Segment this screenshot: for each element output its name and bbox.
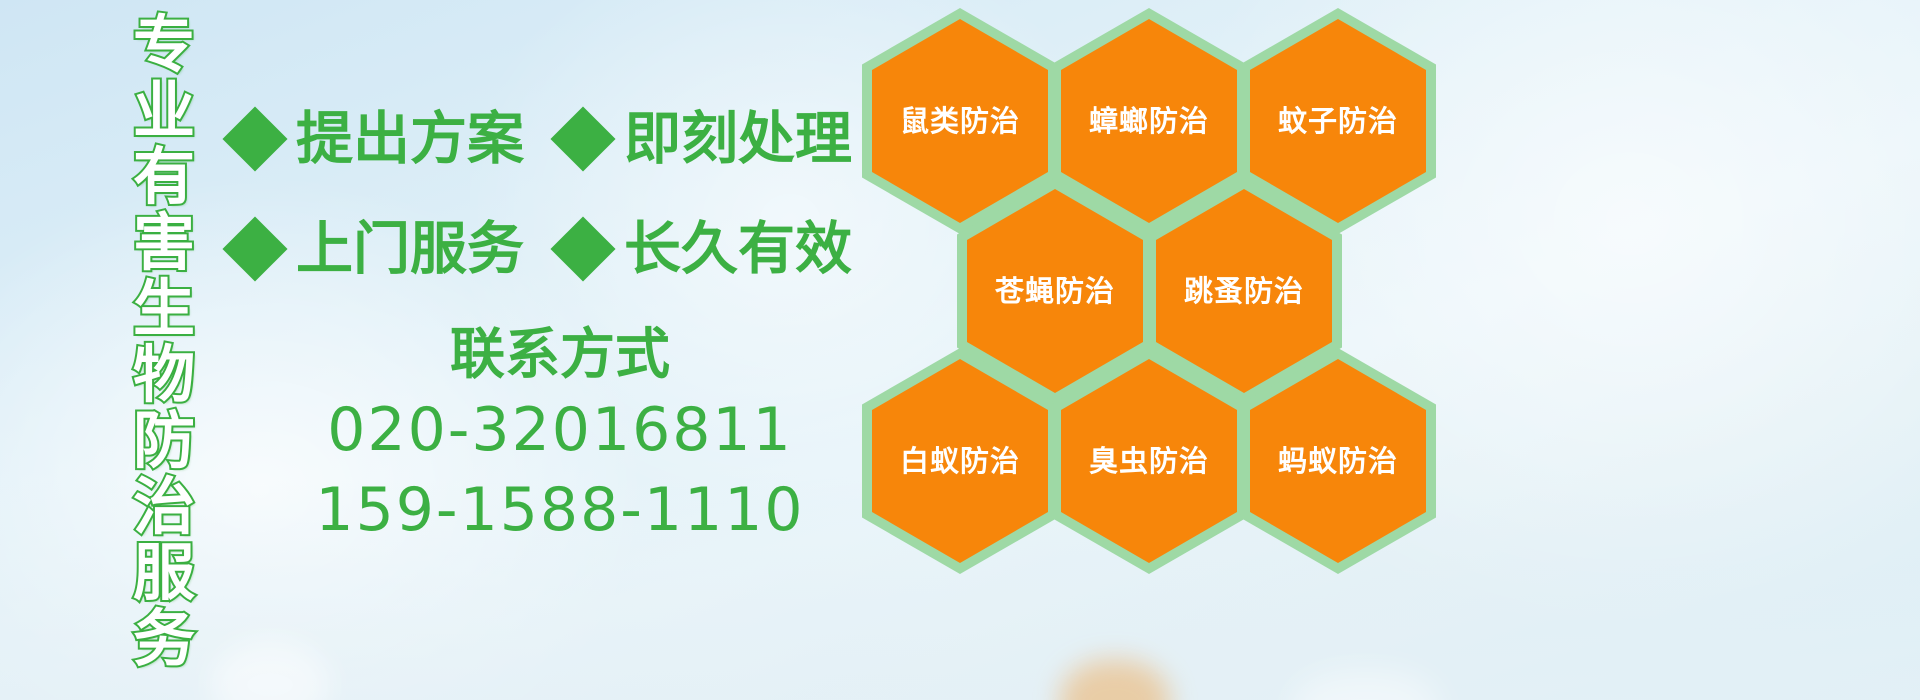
feature-item-onsite-service: 上门服务 [232,218,524,280]
pest-control-banner: 专 业 有 害 生 物 防 治 服 务 提出方案 即刻处理 上门服务 [0,0,1920,700]
background-blob-orange [1060,660,1170,700]
service-hex-fill: 苍蝇防治 [967,189,1143,393]
service-hex-label: 跳蚤防治 [1184,274,1304,308]
service-honeycomb: 鼠类防治 蟑螂防治 蚊子防治 苍蝇防治 跳蚤防治 白蚁防治 [862,0,1462,560]
vertical-headline-char: 务 [133,606,195,672]
contact-phone-mobile[interactable]: 159-1588-1110 [300,470,820,550]
contact-phone-landline[interactable]: 020-32016811 [300,390,820,470]
service-hex-label: 蟑螂防治 [1089,104,1209,138]
feature-row: 提出方案 即刻处理 [232,84,872,194]
service-hex-fill: 臭虫防治 [1061,359,1237,563]
feature-label: 提出方案 [296,108,524,170]
contact-title: 联系方式 [300,318,820,390]
service-hex-label: 蚊子防治 [1278,104,1398,138]
diamond-bullet-icon [222,106,287,171]
vertical-headline-char: 物 [133,342,195,408]
vertical-headline-char: 生 [133,276,195,342]
background-blob-white-right [1290,670,1440,700]
contact-block: 联系方式 020-32016811 159-1588-1110 [300,318,820,550]
background-blob-white-left [210,640,330,700]
service-hex-fill: 鼠类防治 [872,19,1048,223]
service-hex-label: 苍蝇防治 [995,274,1115,308]
vertical-headline-char: 专 [133,12,195,78]
feature-row: 上门服务 长久有效 [232,194,872,304]
service-hex-fill: 蟑螂防治 [1061,19,1237,223]
service-hex-fill: 白蚁防治 [872,359,1048,563]
feature-label: 即刻处理 [624,108,852,170]
diamond-bullet-icon [550,106,615,171]
service-hex-label: 白蚁防治 [900,444,1020,478]
vertical-headline: 专 业 有 害 生 物 防 治 服 务 [112,12,216,688]
service-hex-label: 臭虫防治 [1089,444,1209,478]
feature-list: 提出方案 即刻处理 上门服务 长久有效 [232,84,872,304]
diamond-bullet-icon [222,216,287,281]
vertical-headline-char: 害 [133,210,195,276]
vertical-headline-char: 服 [133,540,195,606]
feature-item-immediate-treatment: 即刻处理 [560,108,852,170]
vertical-headline-char: 有 [133,144,195,210]
service-hex-fill: 蚂蚁防治 [1250,359,1426,563]
service-hex-label: 鼠类防治 [900,104,1020,138]
service-hex-fill: 跳蚤防治 [1156,189,1332,393]
feature-label: 上门服务 [296,218,524,280]
feature-label: 长久有效 [624,218,852,280]
vertical-headline-char: 治 [133,474,195,540]
feature-item-propose-plan: 提出方案 [232,108,524,170]
diamond-bullet-icon [550,216,615,281]
vertical-headline-char: 防 [133,408,195,474]
vertical-headline-char: 业 [133,78,195,144]
service-hex-fill: 蚊子防治 [1250,19,1426,223]
feature-item-long-lasting: 长久有效 [560,218,852,280]
service-hex-label: 蚂蚁防治 [1278,444,1398,478]
